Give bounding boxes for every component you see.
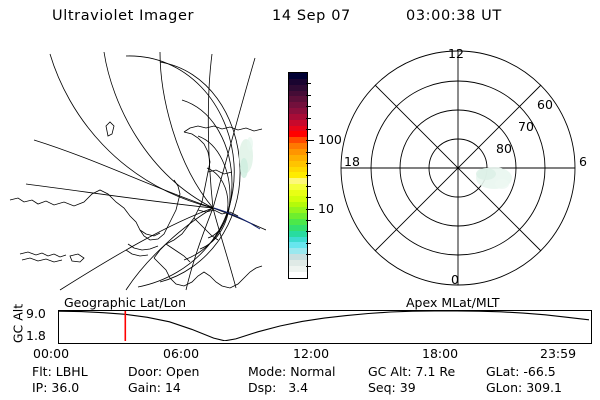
page-title: Ultraviolet Imager [52,8,194,24]
status-mode: Mode: Normal [248,364,336,379]
mlat-label-80: 80 [496,141,512,156]
colorbar-tick-label-10: 10 [318,201,334,216]
coastline-south-america [10,180,180,256]
mlt-label-6: 6 [579,154,587,169]
status-ip-key: IP: [32,380,47,395]
status-ip: IP: 36.0 [32,380,79,395]
island-outlines [20,122,114,262]
mlt-dial-svg [336,44,596,292]
mlt-dial-panel[interactable]: 12 18 6 0 60 70 80 [336,44,596,292]
mlt-label-12: 12 [448,46,464,61]
strip-xtick-4: 23:59 [540,346,576,361]
status-glon: GLon: 309.1 [486,380,562,395]
strip-ytick-bottom: 1.8 [26,328,46,343]
status-seq-value: 39 [400,380,416,395]
mlat-label-60: 60 [537,97,553,112]
strip-xtick-1: 06:00 [163,346,199,361]
status-door-key: Door: [128,364,162,379]
colorbar-band-34 [289,272,307,278]
colorbar-tick-marks [306,72,314,277]
status-gc-alt-key: GC Alt: [368,364,412,379]
status-glat-key: GLat: [486,364,519,379]
mlt-label-0: 0 [451,272,459,287]
strip-chart-ylabel: GC Alt [11,300,26,348]
status-gain-key: Gain: [128,380,161,395]
colorbar-panel: photon cm-2s-1 100 10 [262,60,340,292]
status-mode-key: Mode: [248,364,286,379]
status-flight-value: LBHL [56,364,88,379]
altitude-curve [59,311,589,341]
status-glat-value: -66.5 [523,364,555,379]
graticule-lines [26,52,266,290]
status-flight-key: Flt: [32,364,52,379]
mlt-spokes [341,51,575,285]
strip-ytick-top: 9.0 [26,306,46,321]
header-bar: Ultraviolet Imager 14 Sep 07 03:00:38 UT [0,8,600,32]
status-glat: GLat: -66.5 [486,364,556,379]
aurora-emission-patch [239,137,253,178]
status-seq-key: Seq: [368,380,396,395]
status-footer: Flt: LBHL Door: Open Mode: Normal GC Alt… [0,364,600,398]
aurora-emission-patch-mlt [476,167,512,189]
status-ip-value: 36.0 [51,380,79,395]
geographic-map-panel[interactable] [8,44,266,292]
strip-chart-plot-area[interactable] [58,310,592,344]
status-gain: Gain: 14 [128,380,181,395]
status-gain-value: 14 [165,380,181,395]
status-door: Door: Open [128,364,199,379]
strip-xtick-2: 12:00 [293,346,329,361]
status-glon-key: GLon: [486,380,522,395]
strip-xtick-3: 18:00 [422,346,458,361]
header-time: 03:00:38 UT [406,8,502,24]
status-gc-alt: GC Alt: 7.1 Re [368,364,455,379]
geographic-map-svg [8,44,266,292]
status-dsp-key: Dsp: [248,380,276,395]
header-date: 14 Sep 07 [272,8,351,24]
colorbar-gradient [288,72,308,279]
status-door-value: Open [166,364,199,379]
mlat-label-70: 70 [518,119,534,134]
strip-chart-svg [59,311,589,341]
status-gc-alt-value: 7.1 Re [416,364,456,379]
mlt-label-18: 18 [344,154,360,169]
status-dsp: Dsp: 3.4 [248,380,308,395]
altitude-strip-chart[interactable]: GC Alt 9.0 1.8 00:00 06:00 12:00 18:00 2… [0,306,600,354]
status-glon-value: 309.1 [526,380,562,395]
status-flight: Flt: LBHL [32,364,88,379]
status-seq: Seq: 39 [368,380,416,395]
status-dsp-value: 3.4 [288,380,308,395]
status-mode-value: Normal [290,364,335,379]
strip-xtick-0: 00:00 [33,346,69,361]
